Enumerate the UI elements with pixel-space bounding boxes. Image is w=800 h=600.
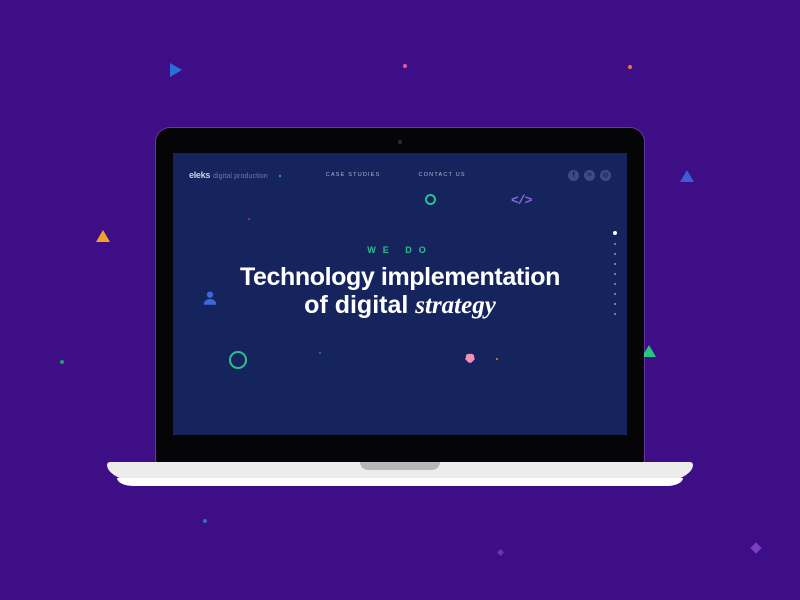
scroll-dot[interactable] [614,263,616,265]
website-viewport: eleks digital production CASE STUDIES CO… [173,153,627,435]
laptop-base-edge [117,478,683,486]
diamond-purple-shape [750,542,761,553]
hero-section: WE DO Technology implementation of digit… [173,245,627,321]
hero-headline-prefix: of digital [304,291,415,319]
laptop-mockup: eleks digital production CASE STUDIES CO… [107,128,693,486]
logo-mark: eleks [189,170,210,180]
dot-orange-screen [496,358,498,360]
logo-tagline: digital production [213,173,268,180]
trackpad-notch [360,462,440,470]
circle-outline-large-icon [229,351,247,369]
dot-green-left-shape [60,360,64,364]
dot-blue-bottom-shape [203,519,207,523]
scroll-progress-rail[interactable] [613,231,617,315]
nav-links: CASE STUDIES CONTACT US [326,172,466,178]
circle-outline-small-icon [425,194,436,205]
screenshot-canvas: eleks digital production CASE STUDIES CO… [0,0,800,600]
social-links: f in ◎ [568,170,611,181]
scroll-dot-active[interactable] [613,231,617,235]
dot-orange-top-shape [628,65,632,69]
scroll-dot[interactable] [614,253,616,255]
scroll-dot[interactable] [614,303,616,305]
scroll-dot[interactable] [614,273,616,275]
scroll-dot[interactable] [614,283,616,285]
dot-teal-screen [279,175,281,177]
hero-headline-line-2: of digital strategy [173,291,627,321]
hero-headline-emphasis: strategy [415,292,496,319]
nav-link-contact-us[interactable]: CONTACT US [419,172,466,178]
instagram-icon[interactable]: ◎ [600,170,611,181]
scroll-dot[interactable] [614,313,616,315]
camera-icon [398,140,402,144]
site-navbar: eleks digital production CASE STUDIES CO… [173,165,627,185]
site-logo[interactable]: eleks digital production [189,170,268,180]
hero-headline-line-1: Technology implementation [173,264,627,291]
triangle-right-blue-shape [170,63,182,77]
user-icon [201,289,219,312]
scroll-dot[interactable] [614,243,616,245]
hero-eyebrow: WE DO [173,245,627,255]
dot-blue-screen [319,352,321,354]
laptop-lid: eleks digital production CASE STUDIES CO… [156,128,644,463]
scroll-dot[interactable] [614,293,616,295]
dot-purple-bottom-shape [497,549,504,556]
dot-red-screen [248,218,250,220]
nav-link-case-studies[interactable]: CASE STUDIES [326,172,381,178]
code-tag-icon: </> [511,193,531,208]
laptop-base [107,462,693,486]
laptop-screen: eleks digital production CASE STUDIES CO… [173,153,627,435]
linkedin-icon[interactable]: in [584,170,595,181]
dot-pink-top-shape [403,64,407,68]
facebook-icon[interactable]: f [568,170,579,181]
